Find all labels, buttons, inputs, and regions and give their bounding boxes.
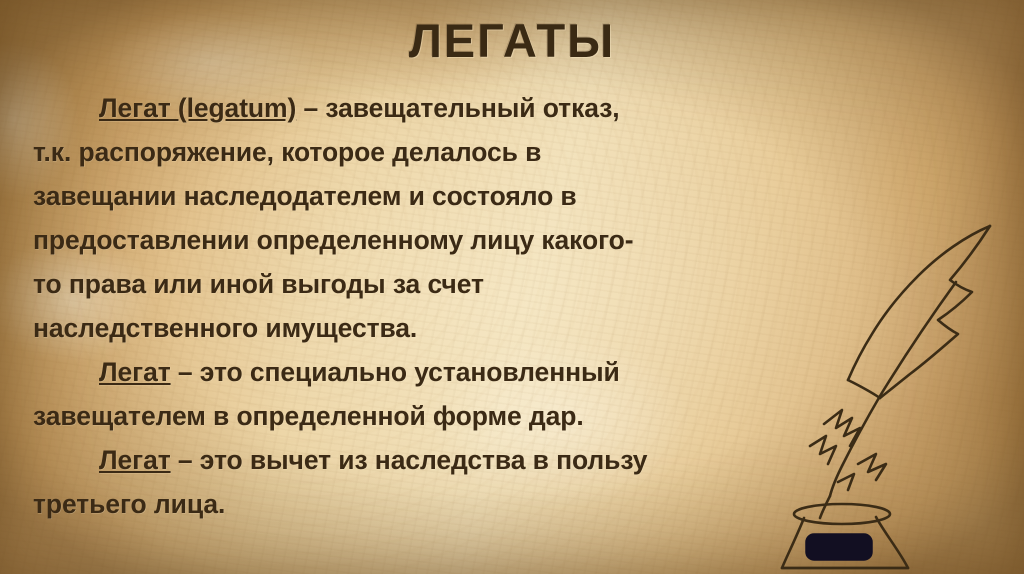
paragraph-2-line-1: Легат – это специально установленный xyxy=(33,350,833,394)
paragraph-1-line-6: наследственного имущества. xyxy=(33,306,833,350)
feather-barbs-right-lower xyxy=(838,474,854,490)
paragraph-2-line-2: завещателем в определенной форме дар. xyxy=(33,394,833,438)
body-text-block: Легат (legatum) – завещательный отказ, т… xyxy=(33,86,833,526)
paragraph-3-line-2: третьего лица. xyxy=(33,482,833,526)
inkwell-mouth xyxy=(794,504,890,524)
feather-barbs-right xyxy=(858,454,886,480)
inkwell-label-patch xyxy=(806,534,872,560)
slide-content: ЛЕГАТЫ Легат (legatum) – завещательный о… xyxy=(0,0,1024,574)
term-legat-latin: Легат (legatum) xyxy=(99,93,296,123)
paragraph-1-line-5: то права или иной выгоды за счет xyxy=(33,262,833,306)
paragraph-1-line-1: Легат (legatum) – завещательный отказ, xyxy=(33,86,833,130)
paragraph-definition-2: Легат – это специально установленный зав… xyxy=(33,350,833,438)
paragraph-1-line-4: предоставлении определенному лицу какого… xyxy=(33,218,833,262)
slide-canvas: ЛЕГАТЫ Легат (legatum) – завещательный о… xyxy=(0,0,1024,574)
paragraph-3-line-1: Легат – это вычет из наследства в пользу xyxy=(33,438,833,482)
feather-barbs-left-lower xyxy=(810,436,836,464)
paragraph-2-line-1-text: – это специально установленный xyxy=(171,357,620,387)
paragraph-1-line-1-text: – завещательный отказ, xyxy=(296,93,619,123)
paragraph-1-line-3: завещании наследодателем и состояло в xyxy=(33,174,833,218)
feather-lower-left-edge xyxy=(848,380,880,398)
term-legat-3: Легат xyxy=(99,445,171,475)
quill-pen-and-inkwell-icon xyxy=(780,214,1016,574)
paragraph-3-line-1-text: – это вычет из наследства в пользу xyxy=(171,445,648,475)
term-legat-2: Легат xyxy=(99,357,171,387)
paragraph-definition-1: Легат (legatum) – завещательный отказ, т… xyxy=(33,86,833,350)
page-title: ЛЕГАТЫ xyxy=(0,13,1024,68)
paragraph-definition-3: Легат – это вычет из наследства в пользу… xyxy=(33,438,833,526)
paragraph-1-line-2: т.к. распоряжение, которое делалось в xyxy=(33,130,833,174)
feather-left-vane xyxy=(848,226,990,380)
quill-nib xyxy=(820,496,830,518)
